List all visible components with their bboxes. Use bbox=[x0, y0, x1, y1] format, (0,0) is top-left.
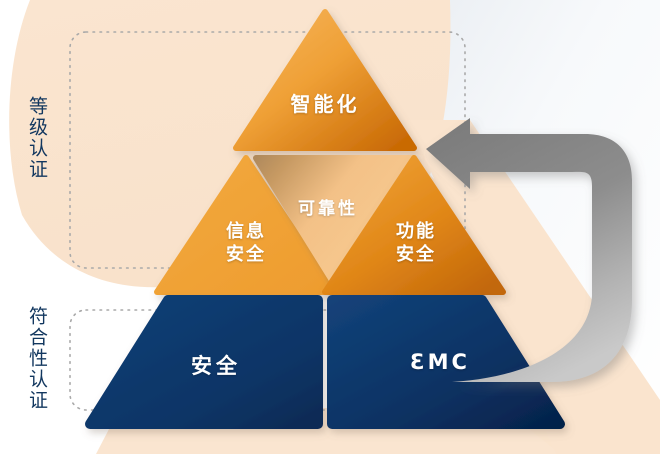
side-label-compliance-certification: 符合性认证 bbox=[26, 306, 46, 411]
pyramid-layer bbox=[0, 0, 660, 454]
pyramid-block-emc[interactable] bbox=[332, 300, 560, 424]
pyramid-block-safety[interactable] bbox=[90, 300, 318, 424]
diagram-canvas: 等级认证 符合性认证 智能化 信息 安全 可靠性 功能 安全 安全 ƐMC bbox=[0, 0, 660, 454]
side-label-level-certification: 等级认证 bbox=[26, 96, 46, 180]
pyramid-block-intelligence[interactable] bbox=[236, 12, 414, 148]
